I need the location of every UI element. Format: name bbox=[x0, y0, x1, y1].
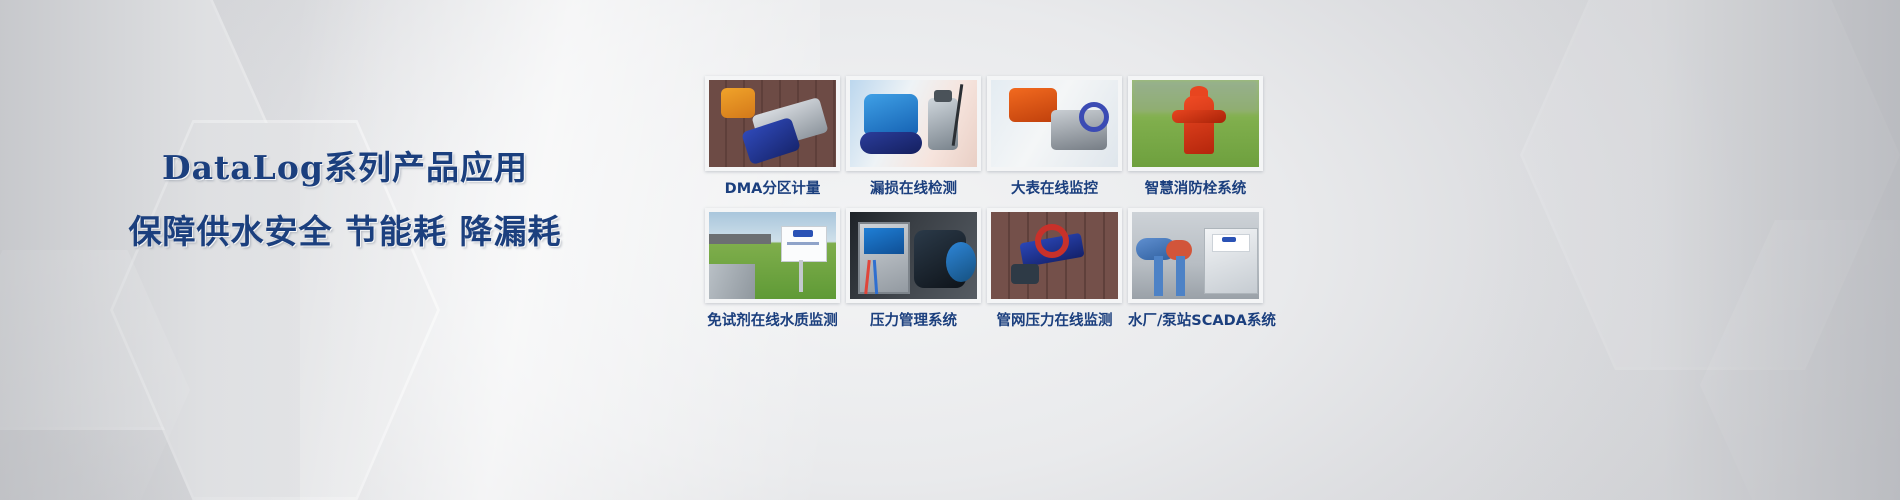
water-quality-station-photo bbox=[705, 208, 840, 303]
pressure-management-photo bbox=[846, 208, 981, 303]
card-caption: 漏损在线检测 bbox=[846, 180, 981, 198]
headline-block: DataLog系列产品应用 保障供水安全 节能耗 降漏耗 bbox=[0, 148, 690, 252]
card-caption: 免试剂在线水质监测 bbox=[705, 312, 840, 330]
leak-detection-logger-photo bbox=[846, 76, 981, 171]
headline-line-2: 保障供水安全 节能耗 降漏耗 bbox=[0, 212, 690, 252]
application-card[interactable]: 管网压力在线监测 bbox=[987, 208, 1122, 330]
application-card[interactable]: 智慧消防栓系统 bbox=[1128, 76, 1263, 198]
right-shade-overlay bbox=[1470, 0, 1900, 500]
large-water-meter-photo bbox=[987, 76, 1122, 171]
card-caption: DMA分区计量 bbox=[705, 180, 840, 198]
card-caption: 智慧消防栓系统 bbox=[1128, 180, 1263, 198]
dma-flow-meter-photo bbox=[705, 76, 840, 171]
application-card[interactable]: 大表在线监控 bbox=[987, 76, 1122, 198]
card-caption: 水厂/泵站SCADA系统 bbox=[1128, 312, 1263, 330]
scada-pump-station-photo bbox=[1128, 208, 1263, 303]
application-card[interactable]: 压力管理系统 bbox=[846, 208, 981, 330]
card-caption: 管网压力在线监测 bbox=[987, 312, 1122, 330]
application-card[interactable]: 水厂/泵站SCADA系统 bbox=[1128, 208, 1263, 330]
card-caption: 大表在线监控 bbox=[987, 180, 1122, 198]
product-application-banner: DataLog系列产品应用 保障供水安全 节能耗 降漏耗 DMA分区计量 漏损在… bbox=[0, 0, 1900, 500]
application-card[interactable]: 免试剂在线水质监测 bbox=[705, 208, 840, 330]
application-card[interactable]: DMA分区计量 bbox=[705, 76, 840, 198]
fire-hydrant-photo bbox=[1128, 76, 1263, 171]
card-caption: 压力管理系统 bbox=[846, 312, 981, 330]
pipe-network-pressure-photo bbox=[987, 208, 1122, 303]
application-card-grid: DMA分区计量 漏损在线检测 大表在线监控 智慧消防栓系统 免试剂在线水质监测 … bbox=[705, 76, 1263, 330]
headline-line-1: DataLog系列产品应用 bbox=[0, 148, 690, 188]
application-card[interactable]: 漏损在线检测 bbox=[846, 76, 981, 198]
